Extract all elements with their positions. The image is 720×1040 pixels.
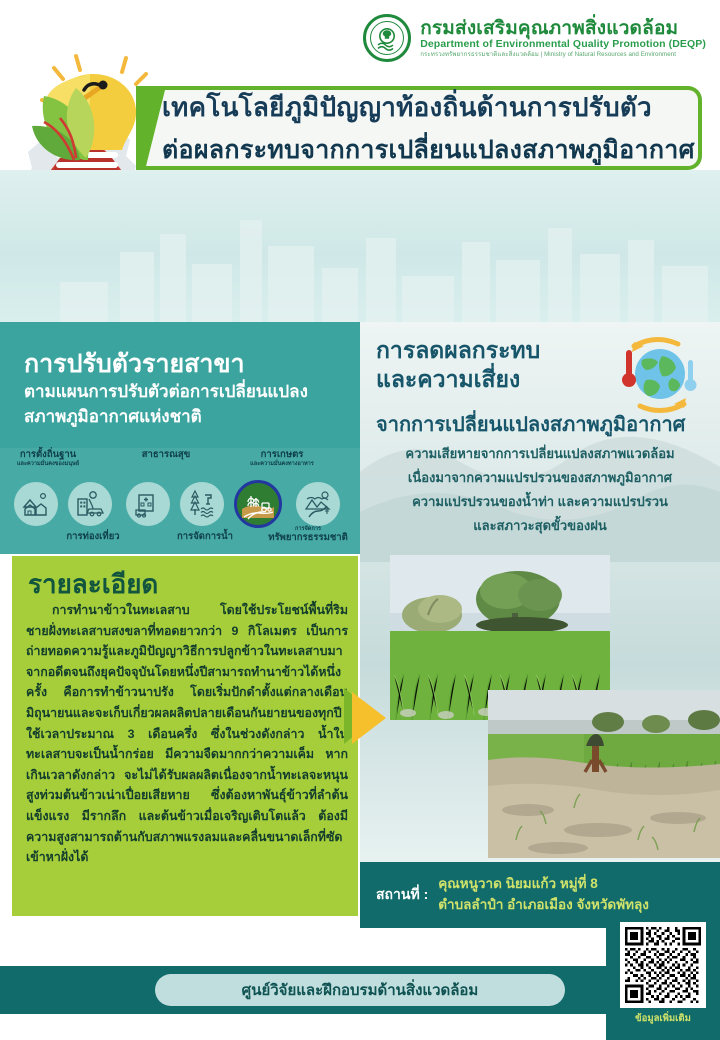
detail-panel: รายละเอียด การทำนาข้าวในทะเลสาบ โดยใช้ปร… — [12, 556, 358, 916]
footer-pill: ศูนย์วิจัยและฝึกอบรมด้านสิ่งแวดล้อม — [155, 974, 565, 1006]
skyline-watermark — [0, 212, 720, 322]
footer-text: ศูนย์วิจัยและฝึกอบรมด้านสิ่งแวดล้อม — [242, 978, 479, 1002]
water-management-icon[interactable] — [180, 482, 224, 526]
location-bar: สถานที่ : คุณหนูวาด นิยมแก้ว หมู่ที่ 8 ต… — [360, 862, 720, 928]
sector-panel-heading: การปรับตัวรายสาขา — [24, 344, 245, 384]
public-health-icon[interactable] — [126, 482, 170, 526]
technology-name-band: ชื่อเทคโนโลยี : “ทำนาข้าวในทะเลสาบ” ผลผล… — [0, 170, 720, 322]
detail-panel-body: การทำนาข้าวในทะเลสาบ โดยใช้ประโยชน์พื้นท… — [26, 600, 348, 868]
impact-body-line-3: ความแปรปรวนของน้ำท่า และความแปรปรวน — [368, 490, 712, 514]
detail-panel-heading: รายละเอียด — [28, 564, 158, 605]
natural-resources-icon[interactable] — [296, 482, 340, 526]
org-ministry: กระทรวงทรัพยากรธรรมชาติและสิ่งแวดล้อม | … — [420, 52, 706, 59]
location-value: คุณหนูวาด นิยมแก้ว หมู่ที่ 8 ตำบลลำปำ อำ… — [438, 874, 649, 916]
impact-reduction-panel: การลดผลกระทบ และความเสี่ยง จากการเปลี่ยน… — [360, 322, 720, 874]
org-name-en: Department of Environmental Quality Prom… — [420, 39, 706, 51]
qr-section: ข้อมูลเพิ่มเติม — [620, 922, 706, 1026]
poster-title-line1: เทคโนโลยีภูมิปัญญาท้องถิ่นด้านการปรับตัว — [162, 87, 698, 128]
impact-body-line-2: เนื่องมาจากความแปรปรวนของสภาพภูมิอากาศ — [368, 466, 712, 490]
sector-label-tourism: การท่องเที่ยว — [48, 532, 138, 543]
globe-thermometer-icon — [610, 334, 706, 420]
poster-title-line2: ต่อผลกระทบจากการเปลี่ยนแปลงสภาพภูมิอากาศ — [162, 130, 698, 170]
settlement-icon[interactable] — [14, 482, 58, 526]
sector-icons-strip: การตั้งถิ่นฐาน และความมั่นคงของมนุษย์ สา… — [0, 448, 360, 554]
sector-panel-subheading: ตามแผนการปรับตัวต่อการเปลี่ยนแปลงสภาพภูม… — [24, 380, 344, 429]
impact-panel-body: ความเสียหายจากการเปลี่ยนแปลงสภาพแวดล้อม … — [368, 442, 712, 538]
sector-label-natural-resources: การจัดการ ทรัพยากรธรรมชาติ — [256, 526, 360, 544]
tourism-icon[interactable] — [68, 482, 112, 526]
rice-seedling-shore-photo — [488, 690, 720, 858]
sector-label-water: การจัดการน้ำ — [160, 532, 250, 543]
sector-label-settlement: การตั้งถิ่นฐาน และความมั่นคงของมนุษย์ — [6, 450, 90, 468]
deqp-tree-seal-icon — [363, 14, 411, 62]
location-line2: ตำบลลำปำ อำเภอเมือง จังหวัดพัทลุง — [438, 895, 649, 916]
sector-adaptation-panel: การปรับตัวรายสาขา ตามแผนการปรับตัวต่อการ… — [0, 322, 360, 554]
org-name-th: กรมส่งเสริมคุณภาพสิ่งแวดล้อม — [420, 18, 706, 39]
location-label: สถานที่ : — [376, 884, 428, 906]
organization-logo: กรมส่งเสริมคุณภาพสิ่งแวดล้อม Department … — [363, 14, 706, 62]
impact-heading-line2: และความเสี่ยง — [376, 366, 520, 392]
agriculture-icon[interactable] — [234, 480, 282, 528]
impact-body-line-4: และสภาวะสุดขั้วของฝน — [368, 514, 712, 538]
sector-label-agriculture: การเกษตร และความมั่นคงทางอาหาร — [232, 450, 332, 468]
qr-code-icon[interactable] — [620, 922, 706, 1008]
impact-body-line-1: ความเสียหายจากการเปลี่ยนแปลงสภาพแวดล้อม — [368, 442, 712, 466]
qr-caption: ข้อมูลเพิ่มเติม — [620, 1011, 706, 1026]
arrow-yellow-pointer-icon — [352, 692, 386, 744]
sector-label-public-health: สาธารณสุข — [124, 450, 208, 461]
impact-heading-line1: การลดผลกระทบ — [376, 337, 540, 363]
poster-title-banner: เทคโนโลยีภูมิปัญญาท้องถิ่นด้านการปรับตัว… — [136, 86, 702, 170]
impact-panel-heading: การลดผลกระทบ และความเสี่ยง — [376, 336, 540, 395]
poster-root: กรมส่งเสริมคุณภาพสิ่งแวดล้อม Department … — [0, 0, 720, 1040]
location-line1: คุณหนูวาด นิยมแก้ว หมู่ที่ 8 — [438, 874, 649, 895]
